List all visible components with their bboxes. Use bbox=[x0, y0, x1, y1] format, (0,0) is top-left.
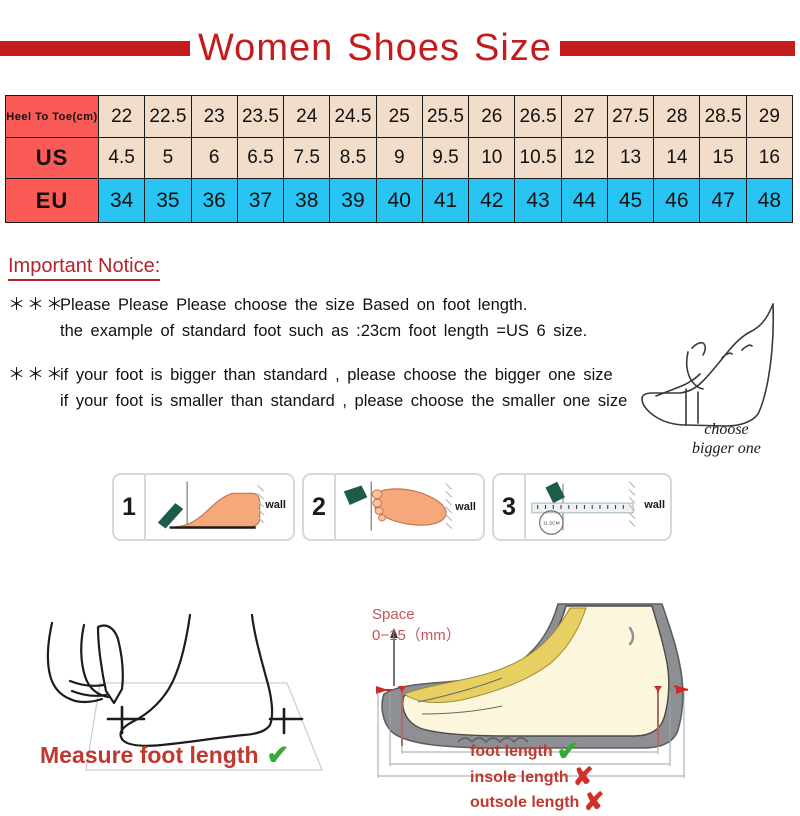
insole-length-label: insole length ✘ bbox=[470, 765, 760, 790]
cell-us-4: 7.5 bbox=[284, 138, 330, 179]
space-label-line-1: Space bbox=[372, 604, 461, 625]
cell-eu-5: 39 bbox=[330, 179, 376, 223]
space-label-line-2: 0−15（mm） bbox=[372, 625, 461, 646]
cell-heel-13: 28.5 bbox=[700, 96, 746, 138]
notice-line-2b-text: if your foot is smaller than standard , … bbox=[60, 388, 627, 414]
check-mark-icon: ✔ bbox=[267, 742, 290, 769]
page-title: WomenShoesSize bbox=[198, 27, 552, 70]
cell-us-6: 9 bbox=[376, 138, 422, 179]
outsole-length-text: outsole length bbox=[470, 793, 579, 813]
title-word-1: Women bbox=[198, 27, 333, 69]
cell-eu-13: 47 bbox=[700, 179, 746, 223]
cell-eu-2: 36 bbox=[191, 179, 237, 223]
notice-line-2b: if your foot is smaller than standard , … bbox=[8, 388, 668, 414]
step-panel-1: 1 wall bbox=[112, 473, 295, 541]
notice-line-1b: the example of standard foot such as :23… bbox=[8, 318, 668, 344]
step-1-illustration: wall bbox=[146, 475, 293, 539]
wall-label-3: wall bbox=[644, 499, 665, 511]
cell-us-2: 6 bbox=[191, 138, 237, 179]
cell-eu-0: 34 bbox=[99, 179, 145, 223]
cell-heel-11: 27.5 bbox=[607, 96, 653, 138]
measure-foot-length-caption: Measure foot length ✔ bbox=[40, 742, 289, 769]
space-measurement-label: Space 0−15（mm） bbox=[372, 604, 461, 646]
row-label-eu: EU bbox=[6, 179, 99, 223]
cell-heel-8: 26 bbox=[469, 96, 515, 138]
cell-us-11: 13 bbox=[607, 138, 653, 179]
cell-us-10: 12 bbox=[561, 138, 607, 179]
cell-heel-5: 24.5 bbox=[330, 96, 376, 138]
cell-eu-9: 43 bbox=[515, 179, 561, 223]
check-mark-icon-foot: ✔ bbox=[557, 738, 580, 765]
cross-mark-icon-outsole: ✘ bbox=[583, 790, 604, 815]
step-number-2: 2 bbox=[304, 475, 336, 539]
wall-label-1: wall bbox=[265, 499, 286, 511]
cell-heel-3: 23.5 bbox=[237, 96, 283, 138]
cell-heel-4: 24 bbox=[284, 96, 330, 138]
row-label-us: US bbox=[6, 138, 99, 179]
cell-heel-0: 22 bbox=[99, 96, 145, 138]
size-chart-table: Heel To Toe(cm) 22 22.5 23 23.5 24 24.5 … bbox=[5, 95, 793, 223]
cell-eu-6: 40 bbox=[376, 179, 422, 223]
title-word-3: Size bbox=[474, 27, 552, 69]
cell-eu-14: 48 bbox=[746, 179, 792, 223]
outsole-length-label: outsole length ✘ bbox=[470, 790, 760, 815]
row-label-heel-to-toe: Heel To Toe(cm) bbox=[6, 96, 99, 138]
cross-mark-icon-insole: ✘ bbox=[573, 765, 594, 790]
title-decoration-bar-left bbox=[0, 41, 190, 56]
cell-us-13: 15 bbox=[700, 138, 746, 179]
cell-us-14: 16 bbox=[746, 138, 792, 179]
table-row-heel-to-toe: Heel To Toe(cm) 22 22.5 23 23.5 24 24.5 … bbox=[6, 96, 793, 138]
foot-length-label: foot length ✔ bbox=[470, 738, 760, 765]
cell-heel-1: 22.5 bbox=[145, 96, 191, 138]
cell-us-0: 4.5 bbox=[99, 138, 145, 179]
notice-line-2: ＊＊＊ if your foot is bigger than standard… bbox=[8, 362, 668, 388]
bullet-stars-1: ＊＊＊ bbox=[8, 292, 60, 318]
title-word-2: Shoes bbox=[347, 27, 460, 69]
foot-length-text: foot length bbox=[470, 742, 553, 762]
step-2-illustration: wall bbox=[336, 475, 483, 539]
notice-line-1: ＊＊＊ Please Please Please choose the size… bbox=[8, 292, 668, 318]
length-labels: foot length ✔ insole length ✘ outsole le… bbox=[470, 738, 760, 815]
choose-bigger-one-label: choose bigger one bbox=[692, 420, 761, 458]
wall-label-2: wall bbox=[455, 501, 476, 513]
cell-us-12: 14 bbox=[654, 138, 700, 179]
notice-line-1b-text: the example of standard foot such as :23… bbox=[60, 318, 587, 344]
cell-eu-3: 37 bbox=[237, 179, 283, 223]
notice-line-1-text: Please Please Please choose the size Bas… bbox=[60, 292, 527, 318]
notice-text-block: ＊＊＊ Please Please Please choose the size… bbox=[8, 292, 668, 414]
cell-us-1: 5 bbox=[145, 138, 191, 179]
cell-heel-6: 25 bbox=[376, 96, 422, 138]
cell-eu-8: 42 bbox=[469, 179, 515, 223]
insole-length-text: insole length bbox=[470, 768, 569, 788]
step-number-3: 3 bbox=[494, 475, 526, 539]
important-notice-heading: Important Notice: bbox=[8, 255, 160, 281]
cell-eu-11: 45 bbox=[607, 179, 653, 223]
table-row-eu: EU 34 35 36 37 38 39 40 41 42 43 44 45 4… bbox=[6, 179, 793, 223]
page-title-row: WomenShoesSize bbox=[0, 22, 800, 74]
table-row-us: US 4.5 5 6 6.5 7.5 8.5 9 9.5 10 10.5 12 … bbox=[6, 138, 793, 179]
cell-eu-10: 44 bbox=[561, 179, 607, 223]
cell-heel-12: 28 bbox=[654, 96, 700, 138]
cell-heel-10: 27 bbox=[561, 96, 607, 138]
step-panel-3: 3 11.5CM bbox=[492, 473, 672, 541]
cell-heel-9: 26.5 bbox=[515, 96, 561, 138]
choose-line-2: bigger one bbox=[692, 439, 761, 458]
ruler-value: 11.5CM bbox=[543, 521, 560, 527]
cell-eu-1: 35 bbox=[145, 179, 191, 223]
cell-us-5: 8.5 bbox=[330, 138, 376, 179]
step-3-illustration: 11.5CM wall bbox=[526, 475, 670, 539]
cell-heel-2: 23 bbox=[191, 96, 237, 138]
choose-line-1: choose bbox=[692, 420, 761, 439]
notice-spacer bbox=[8, 344, 668, 362]
cell-us-9: 10.5 bbox=[515, 138, 561, 179]
cell-heel-7: 25.5 bbox=[422, 96, 468, 138]
notice-line-2-text: if your foot is bigger than standard , p… bbox=[60, 362, 613, 388]
cell-us-3: 6.5 bbox=[237, 138, 283, 179]
measurement-steps: 1 wall 2 bbox=[112, 473, 672, 541]
measure-caption-text: Measure foot length bbox=[40, 742, 259, 769]
cell-us-8: 10 bbox=[469, 138, 515, 179]
cell-eu-4: 38 bbox=[284, 179, 330, 223]
cell-us-7: 9.5 bbox=[422, 138, 468, 179]
cell-eu-12: 46 bbox=[654, 179, 700, 223]
step-panel-2: 2 wall bbox=[302, 473, 485, 541]
cell-eu-7: 41 bbox=[422, 179, 468, 223]
cell-heel-14: 29 bbox=[746, 96, 792, 138]
step-number-1: 1 bbox=[114, 475, 146, 539]
bullet-stars-2: ＊＊＊ bbox=[8, 362, 60, 388]
title-decoration-bar-right bbox=[560, 41, 795, 56]
